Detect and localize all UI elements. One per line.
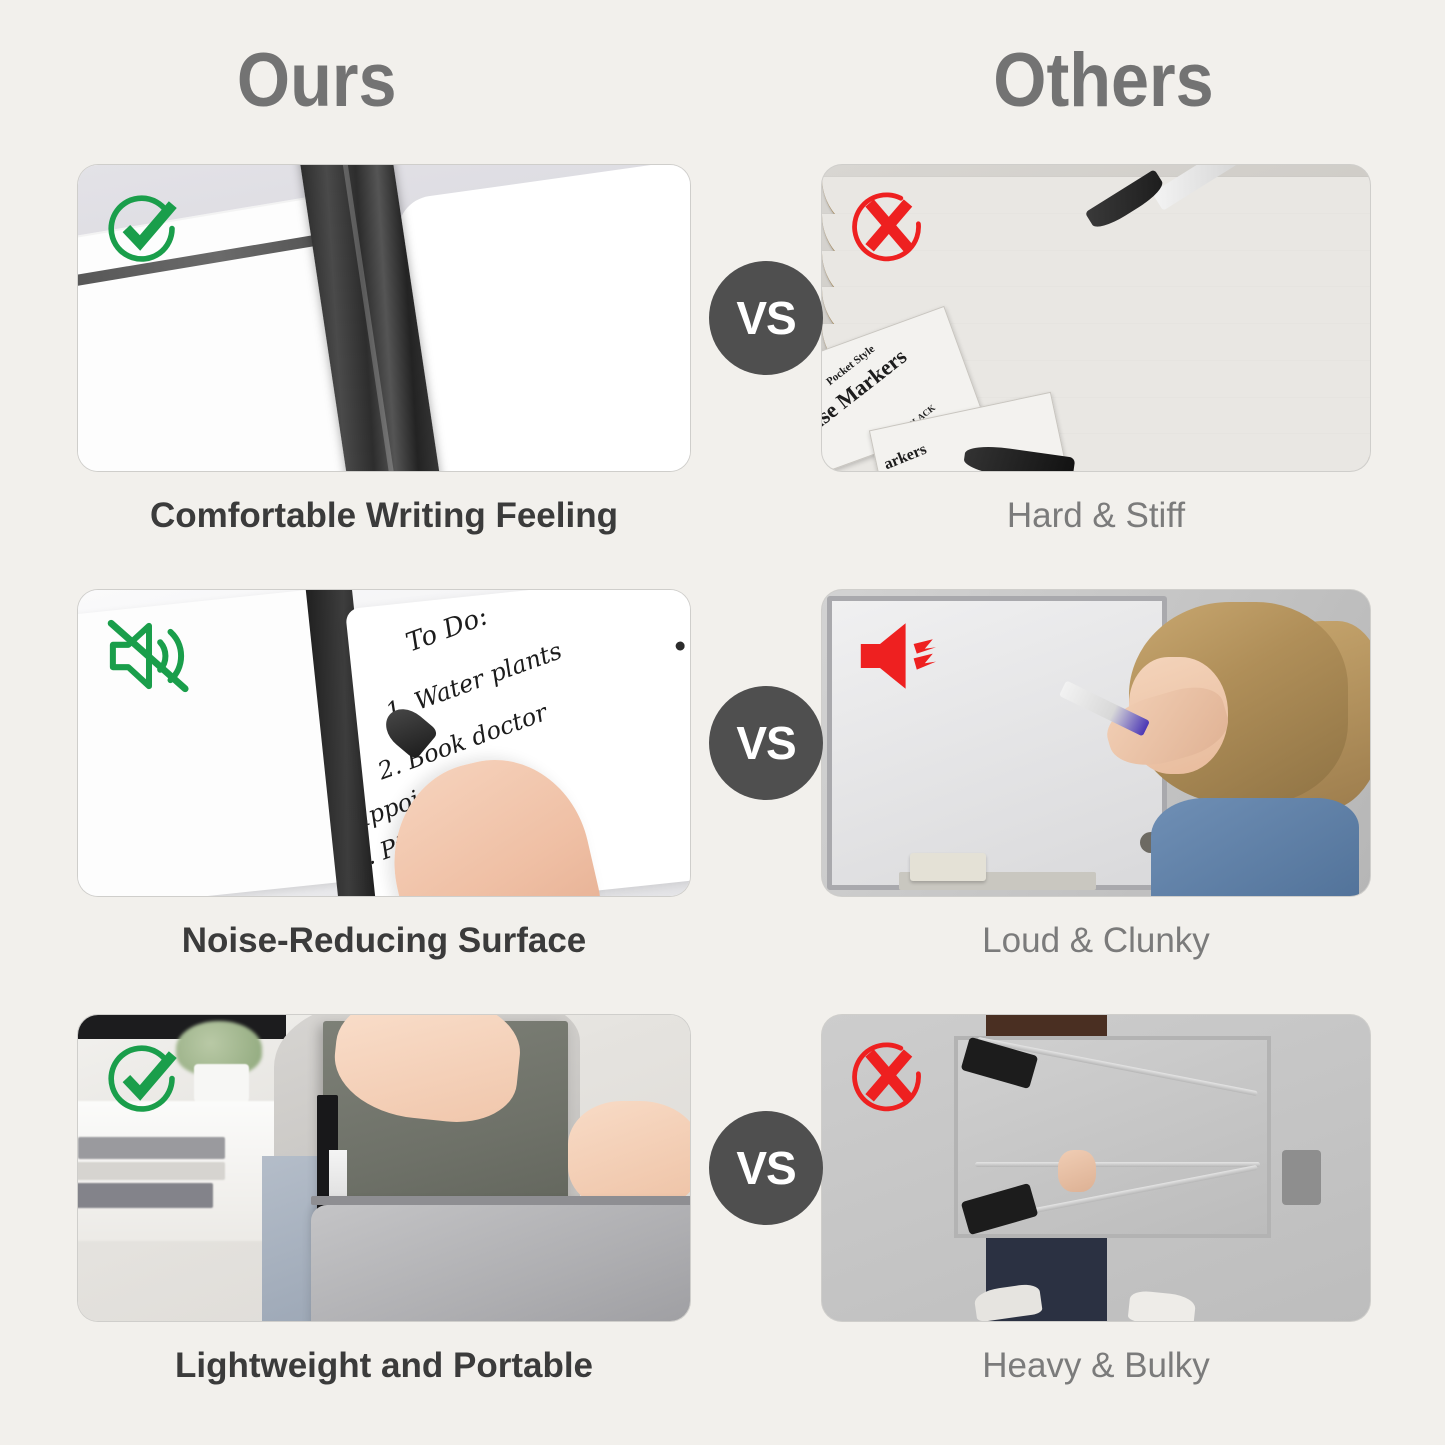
green-check-circle-icon	[104, 1037, 184, 1117]
comparison-grid: Comfortable Writing Feeling VS	[0, 165, 1445, 1440]
others-caption-1: Hard & Stiff	[822, 497, 1370, 536]
others-image-2	[822, 590, 1370, 896]
others-caption-3: Heavy & Bulky	[822, 1347, 1370, 1386]
others-panel-2: Loud & Clunky	[822, 590, 1370, 961]
others-image-1: Odor Pocket Style Erase Markers BLACK ar…	[822, 165, 1370, 471]
others-panel-3: Heavy & Bulky	[822, 1015, 1370, 1386]
page-title-ours: Ours	[236, 43, 396, 119]
ours-panel-1: Comfortable Writing Feeling	[78, 165, 690, 536]
ours-caption-2: Noise-Reducing Surface	[78, 922, 690, 961]
vs-badge-2: VS	[709, 686, 823, 800]
vs-badge-label-1: VS	[736, 295, 795, 341]
red-x-circle-icon	[848, 187, 928, 267]
ours-panel-2: To Do: 1. Water plants 2. Book doctor ap…	[78, 590, 690, 961]
ours-panel-3: Lightweight and Portable	[78, 1015, 690, 1386]
ours-image-1	[78, 165, 690, 471]
green-muted-speaker-icon	[106, 616, 192, 696]
package-text-arkers: arkers	[882, 441, 929, 471]
vs-badge-3: VS	[709, 1111, 823, 1225]
ours-caption-3: Lightweight and Portable	[78, 1347, 690, 1386]
others-image-3	[822, 1015, 1370, 1321]
header-cell-ours: Ours	[0, 36, 723, 126]
comparison-header: Ours Others	[0, 36, 1445, 126]
others-panel-1: Odor Pocket Style Erase Markers BLACK ar…	[822, 165, 1370, 536]
ours-caption-1: Comfortable Writing Feeling	[78, 497, 690, 536]
page-title-others: Others	[994, 43, 1214, 119]
red-loud-speaker-icon	[856, 620, 944, 692]
vs-badge-1: VS	[709, 261, 823, 375]
vs-badge-label-3: VS	[736, 1145, 795, 1191]
handwriting-title: To Do:	[402, 604, 490, 657]
header-cell-others: Others	[723, 36, 1445, 126]
red-x-circle-icon	[848, 1037, 928, 1117]
ours-image-3	[78, 1015, 690, 1321]
green-check-circle-icon	[104, 187, 184, 267]
others-caption-2: Loud & Clunky	[822, 922, 1370, 961]
vs-badge-label-2: VS	[736, 720, 795, 766]
comparison-row-3: Lightweight and Portable VS	[0, 1015, 1445, 1440]
ours-image-2: To Do: 1. Water plants 2. Book doctor ap…	[78, 590, 690, 896]
comparison-row-1: Comfortable Writing Feeling VS	[0, 165, 1445, 590]
comparison-row-2: To Do: 1. Water plants 2. Book doctor ap…	[0, 590, 1445, 1015]
